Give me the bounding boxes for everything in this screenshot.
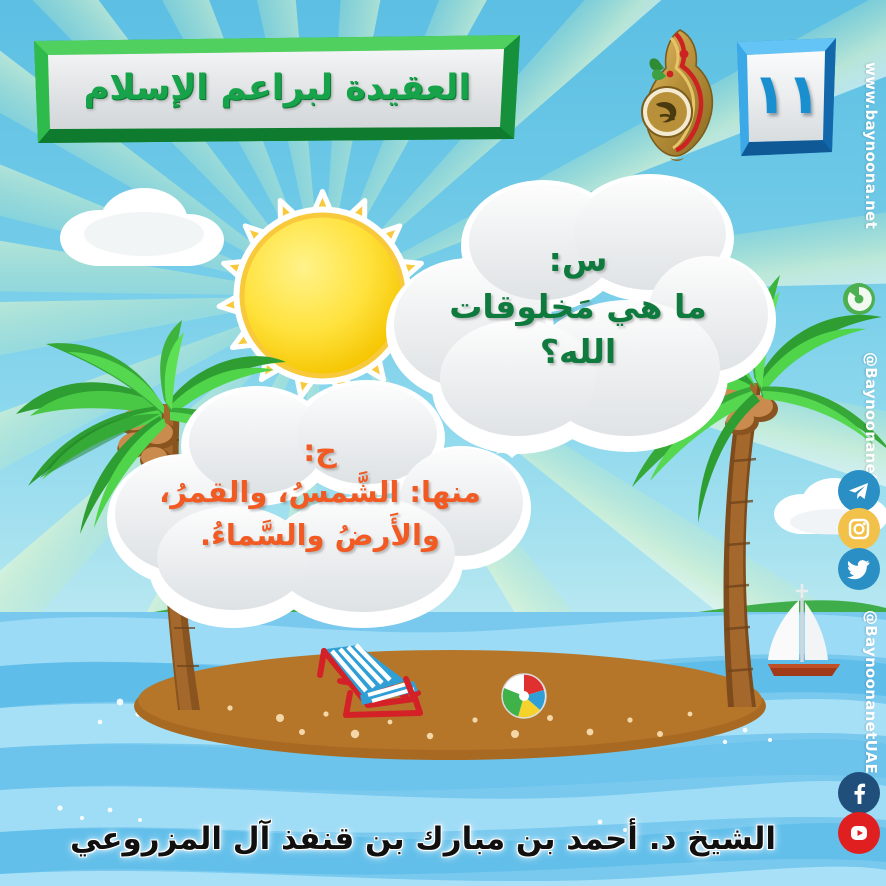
author-signature: الشيخ د. أحمد بن مبارك بن قنفذ آل المزرو… bbox=[0, 804, 886, 874]
baynoona-circle-icon[interactable] bbox=[838, 278, 880, 320]
instagram-icon[interactable] bbox=[838, 508, 880, 550]
lesson-number: ١١ bbox=[735, 38, 838, 156]
deck-chair-icon bbox=[310, 635, 440, 725]
social-sidebar: www.baynoona.net @Baynoonanet @Baynoonan… bbox=[832, 0, 886, 886]
title-banner: العقيدة لبراعم الإسلام bbox=[34, 35, 520, 143]
question-text: ما هي مَخلوقات الله؟ bbox=[430, 285, 726, 374]
handle-label-baynoonanet[interactable]: @Baynoonanet bbox=[862, 352, 880, 482]
handle-label-baynoonanetuae[interactable]: @BaynoonanetUAE bbox=[862, 610, 880, 774]
twitter-icon[interactable] bbox=[838, 548, 880, 590]
answer-marker: ج: bbox=[303, 434, 337, 469]
question-marker: س: bbox=[549, 240, 608, 279]
website-label[interactable]: www.baynoona.net bbox=[862, 62, 880, 229]
cloud-icon bbox=[52, 182, 232, 272]
beach-ball-icon bbox=[500, 672, 548, 720]
answer-text: منها: الشَّمسُ، والقمرُ، والأَرضُ والسَّ… bbox=[151, 471, 489, 555]
telegram-icon[interactable] bbox=[838, 470, 880, 512]
lesson-number-badge: ١١ bbox=[735, 38, 838, 156]
answer-cloud-bubble: ج: منها: الشَّمسُ، والقمرُ، والأَرضُ وال… bbox=[105, 372, 535, 632]
poster-canvas: س: ما هي مَخلوقات الله؟ bbox=[0, 0, 886, 886]
page-title: العقيدة لبراعم الإسلام bbox=[34, 35, 520, 143]
baynoona-ornament-logo-icon bbox=[636, 24, 722, 164]
